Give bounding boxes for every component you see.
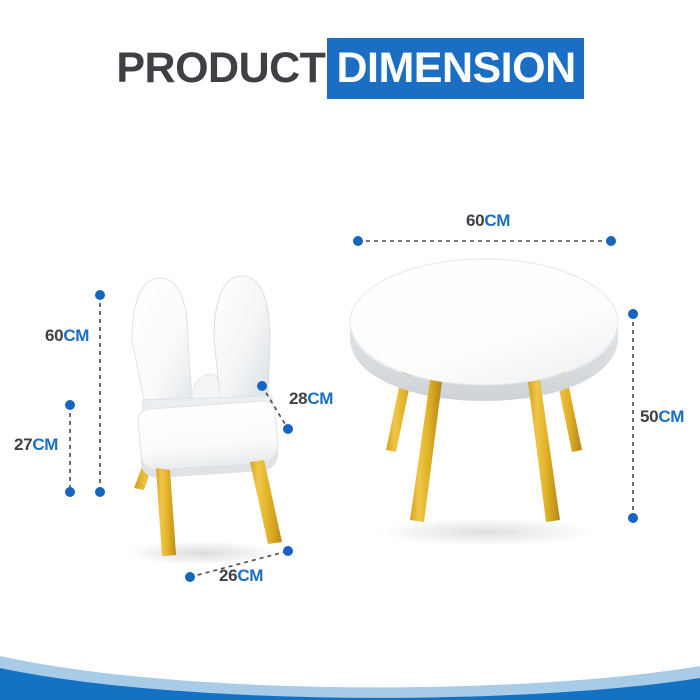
table-top-surface — [350, 259, 618, 385]
chair-seat — [138, 401, 278, 470]
chair-leg-front-right — [250, 460, 282, 544]
bottom-wave-decoration — [0, 610, 700, 700]
dimension-line-table-height — [628, 309, 638, 523]
dimension-label-table-diameter: 60CM — [466, 211, 510, 231]
table-height-value: 50 — [640, 407, 658, 426]
chair-height-unit: CM — [63, 326, 89, 345]
chair-illustration — [110, 270, 300, 570]
table-height-unit: CM — [658, 407, 684, 426]
table-leg-front-left — [410, 380, 442, 522]
chair-back-notch — [192, 374, 220, 398]
title-highlight-block: DIMENSION — [327, 38, 583, 99]
dimension-label-chair-width: 26CM — [219, 566, 263, 586]
table-leg-front-right — [528, 380, 560, 522]
dimension-label-chair-height: 60CM — [45, 326, 89, 346]
product-dimension-infographic: PRODUCT DIMENSION — [0, 0, 700, 700]
chair-seat-unit: CM — [32, 435, 58, 454]
table-diameter-value: 60 — [466, 211, 484, 230]
dimension-label-chair-seat-height: 27CM — [14, 435, 58, 455]
dimension-line-chair-seat-height — [65, 400, 75, 497]
chair-depth-value: 28 — [289, 389, 307, 408]
table-illustration — [338, 240, 628, 550]
page-title: PRODUCT DIMENSION — [0, 38, 700, 98]
chair-depth-unit: CM — [307, 389, 333, 408]
dimension-label-table-height: 50CM — [640, 407, 684, 427]
chair-width-unit: CM — [237, 566, 263, 585]
table-floor-shadow — [371, 517, 601, 547]
dimension-line-chair-height — [95, 290, 105, 497]
chair-height-value: 60 — [45, 326, 63, 345]
chair-seat-value: 27 — [14, 435, 32, 454]
title-word-dimension: DIMENSION — [336, 44, 575, 92]
chair-floor-shadow — [122, 540, 282, 566]
table-diameter-unit: CM — [484, 211, 510, 230]
chair-width-value: 26 — [219, 566, 237, 585]
title-word-product: PRODUCT — [116, 47, 327, 90]
chair-back-ear-left — [132, 278, 192, 400]
dimension-label-chair-depth: 28CM — [289, 389, 333, 409]
chair-back-ear-right — [214, 276, 270, 398]
